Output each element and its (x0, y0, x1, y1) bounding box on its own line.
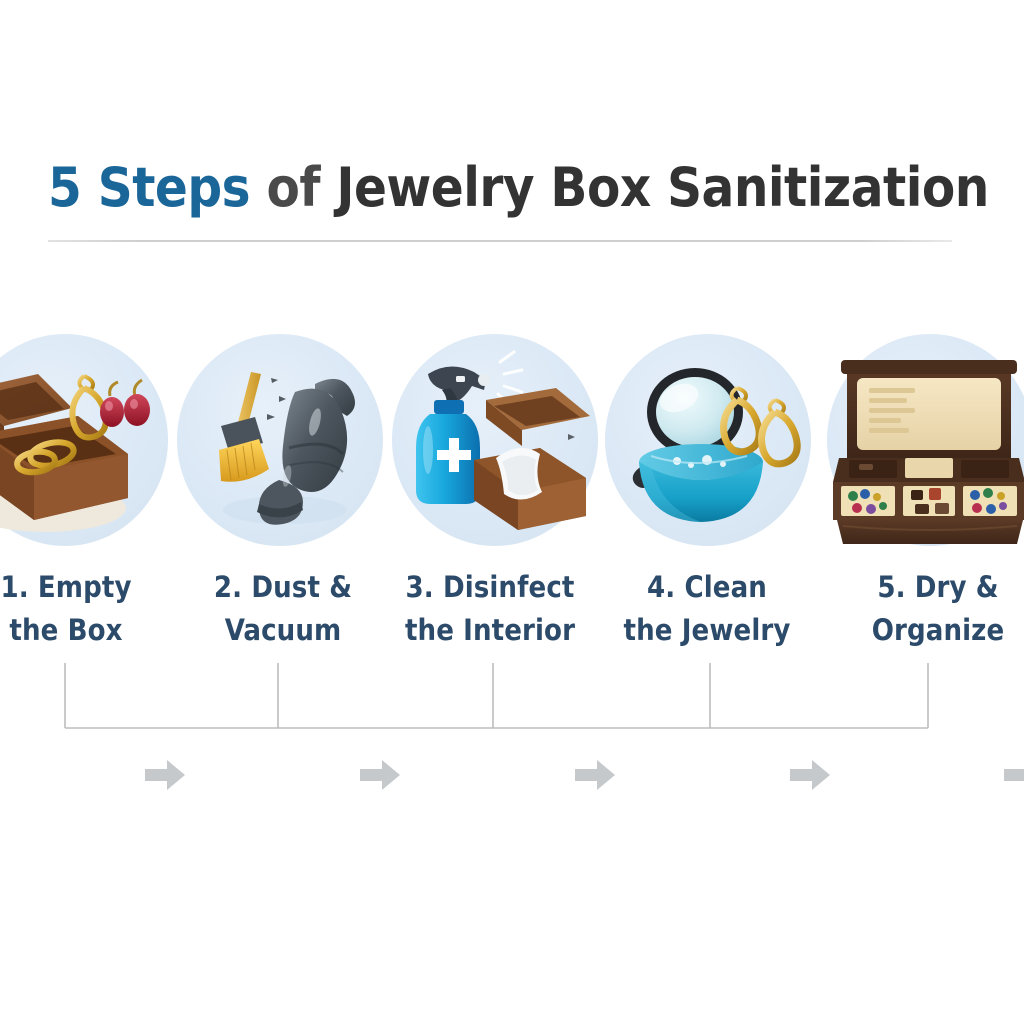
step-label-2-line2: Vacuum (168, 609, 398, 652)
step-label-4: 4. Clean the Jewelry (592, 566, 822, 652)
step-label-5: 5. Dry & Organize (823, 566, 1024, 652)
arrow-step4-to-step5 (790, 758, 832, 792)
title-connector: of (250, 156, 336, 219)
step-label-4-line2: the Jewelry (592, 609, 822, 652)
arrow-step2-to-step3 (360, 758, 402, 792)
open-jewelry-box-with-rings-icon (0, 330, 170, 550)
title-accent: 5 Steps (48, 156, 250, 219)
page-title: 5 Steps of Jewelry Box Sanitization (48, 160, 968, 217)
step-label-3-line1: 3. Disinfect (406, 570, 575, 604)
magnifier-bowl-and-earrings-icon (603, 330, 813, 550)
step-illustration-3 (390, 330, 600, 550)
title-rest: Jewelry Box Sanitization (336, 156, 988, 219)
arrow-step1-to-step2 (145, 758, 187, 792)
arrow-step3-to-step4 (575, 758, 617, 792)
step-label-3: 3. Disinfect the Interior (375, 566, 605, 652)
step-label-1-line2: the Box (0, 609, 181, 652)
step-illustration-2 (175, 330, 385, 550)
step-label-2-line1: 2. Dust & (214, 570, 352, 604)
step-label-4-line1: 4. Clean (647, 570, 767, 604)
step-illustration-1 (0, 330, 170, 550)
organized-jewelry-box-icon (825, 330, 1024, 550)
steps-illustration-row (0, 330, 1024, 560)
step-label-5-line2: Organize (823, 609, 1024, 652)
infographic-canvas: 5 Steps of Jewelry Box Sanitization (0, 0, 1024, 1024)
title-divider (48, 240, 952, 242)
arrow-step5-trailing (1004, 758, 1024, 792)
step-label-5-line1: 5. Dry & (877, 570, 998, 604)
step-label-1-line1: 1. Empty (0, 570, 131, 604)
step-illustration-5 (825, 330, 1024, 550)
step-label-3-line2: the Interior (375, 609, 605, 652)
timeline-bracket (0, 655, 1024, 745)
step-illustration-4 (603, 330, 813, 550)
brush-and-handheld-vacuum-icon (175, 330, 385, 550)
step-label-2: 2. Dust & Vacuum (168, 566, 398, 652)
spray-bottle-and-box-with-cloth-icon (390, 330, 600, 550)
step-label-1: 1. Empty the Box (0, 566, 181, 652)
